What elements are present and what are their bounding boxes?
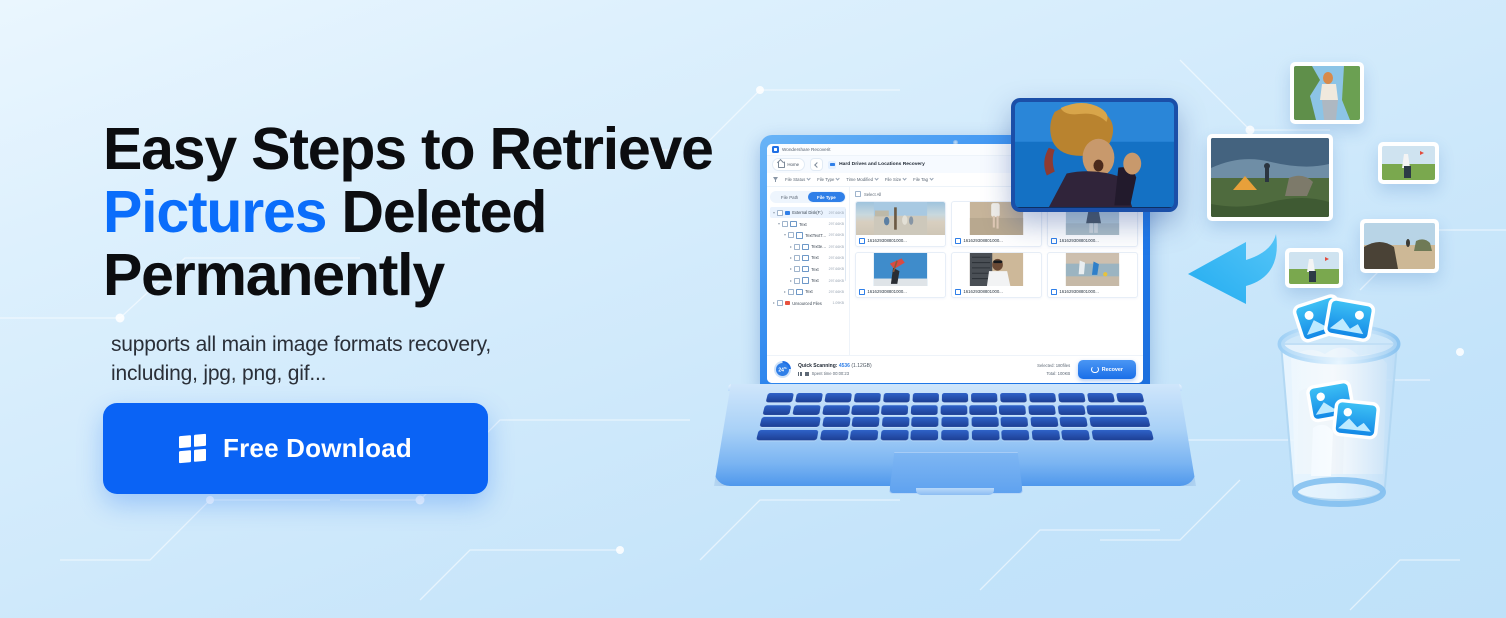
- preview-photo-man-fur-hat: [1015, 102, 1174, 207]
- chevron-down-icon: [929, 177, 934, 182]
- folder-icon: [796, 232, 803, 238]
- expand-toggle-icon[interactable]: [789, 257, 792, 259]
- filter-file-type[interactable]: File Type: [817, 177, 839, 182]
- folder-icon: [796, 289, 803, 295]
- folder-icon: [802, 266, 809, 272]
- photo-person-in-tree: [1294, 66, 1360, 120]
- photo-person-field-kite: [1382, 146, 1435, 180]
- scan-progress-ring: 24%: [774, 361, 791, 378]
- row-checkbox[interactable]: [777, 210, 783, 216]
- tree-row-size: 297.66KB: [829, 245, 844, 249]
- file-name: 161629308801000...: [1059, 238, 1098, 243]
- filter-file-tag[interactable]: File Tag: [913, 177, 933, 182]
- headline-line-1: Easy Steps to Retrieve: [103, 116, 713, 182]
- tree-row[interactable]: Text 297.66KB: [770, 252, 846, 263]
- file-grid-pane: Select All: [850, 187, 1143, 355]
- unsourced-files-icon: [785, 301, 790, 305]
- trash-bin-icon: [1253, 288, 1425, 510]
- tab-file-path[interactable]: File Path: [771, 192, 808, 202]
- tree-row[interactable]: Text 297.66KB: [770, 275, 846, 286]
- tree-row-size: 297.66KB: [829, 290, 844, 294]
- scan-count: 4536: [839, 363, 850, 369]
- tree-row[interactable]: Text 297.66KB: [770, 218, 846, 229]
- tree-row-label: Text: [805, 289, 826, 294]
- thumbnail-image: [952, 253, 1041, 286]
- headline-accent-word: Pictures: [103, 179, 326, 245]
- folder-icon: [802, 255, 809, 261]
- row-checkbox[interactable]: [794, 244, 800, 250]
- status-bar: 24% Quick Scanning: 4536 (1.12GB) Spent …: [767, 355, 1143, 383]
- thumbnail-grid: 161629308801000...: [855, 201, 1138, 298]
- breadcrumb-label: Hard Drives and Locations Recovery: [839, 162, 925, 167]
- file-checkbox[interactable]: [1051, 289, 1057, 295]
- file-name: 161629308801000...: [963, 289, 1002, 294]
- file-card-footer: 161629308801000...: [856, 286, 945, 297]
- laptop-front-notch: [916, 488, 994, 495]
- scan-status: Quick Scanning: 4536 (1.12GB) Spent time…: [798, 363, 872, 377]
- photo-desert-rocks: [1364, 223, 1435, 269]
- file-name: 161629308801000...: [963, 238, 1002, 243]
- file-card-footer: 161629308801000...: [1048, 235, 1137, 246]
- hero-banner: Easy Steps to Retrieve Pictures Deleted …: [0, 0, 1506, 618]
- laptop-keyboard: [756, 393, 1155, 442]
- row-checkbox[interactable]: [788, 232, 794, 238]
- thumbnail-image: [1048, 253, 1137, 286]
- tab-file-type[interactable]: File Type: [808, 192, 845, 202]
- folder-icon: [790, 221, 797, 227]
- tree-row[interactable]: TextTextText... 297.66KB: [770, 230, 846, 241]
- tree-row-label: Text: [811, 278, 826, 283]
- file-checkbox[interactable]: [955, 238, 961, 244]
- floating-photo-card[interactable]: [1360, 219, 1439, 273]
- selected-count: Selected: 180files: [1037, 363, 1070, 368]
- expand-toggle-icon[interactable]: [772, 212, 775, 214]
- chevron-down-icon: [902, 177, 907, 182]
- chevron-down-icon: [874, 177, 879, 182]
- tree-row[interactable]: Text 297.66KB: [770, 264, 846, 275]
- home-icon: [778, 161, 785, 168]
- file-checkbox[interactable]: [859, 238, 865, 244]
- tree-row-label: External Disk(F:): [792, 210, 826, 215]
- chevron-left-icon: [814, 162, 820, 168]
- tree-row[interactable]: Unsourced Files 1.09KB: [770, 298, 846, 309]
- tree-row-label: Text: [811, 267, 826, 272]
- row-checkbox[interactable]: [782, 221, 788, 227]
- spent-time: Spent time 00:00:23: [812, 371, 849, 376]
- stop-icon[interactable]: [805, 372, 809, 376]
- home-button[interactable]: Home: [772, 158, 805, 171]
- back-button[interactable]: [810, 158, 823, 171]
- breadcrumb: Hard Drives and Locations Recovery: [828, 161, 925, 169]
- tree-row-size: 297.66KB: [829, 267, 844, 271]
- scan-size: (1.12GB): [851, 363, 871, 369]
- tree-row-label: Unsourced Files: [792, 301, 830, 306]
- progress-unit: %: [784, 366, 787, 370]
- row-checkbox[interactable]: [777, 300, 783, 306]
- file-name: 161629308801000...: [867, 289, 906, 294]
- floating-photo-card[interactable]: [1378, 142, 1439, 184]
- select-all-checkbox[interactable]: [855, 191, 861, 197]
- expand-toggle-icon[interactable]: [772, 302, 775, 304]
- app-body: File Path File Type External Disk(F:) 29…: [767, 187, 1143, 355]
- row-checkbox[interactable]: [794, 278, 800, 284]
- file-card[interactable]: 161629308801000...: [951, 252, 1042, 298]
- headline-line-3: Permanently: [103, 242, 444, 308]
- file-card[interactable]: 161629308801000...: [855, 252, 946, 298]
- tree-row[interactable]: Texttexttext... 297.66KB: [770, 241, 846, 252]
- app-logo-icon: [772, 146, 779, 153]
- recover-label: Recover: [1102, 367, 1123, 373]
- app-title: Wondershare Recoverit: [782, 147, 831, 152]
- photo-tent-coastline: [1211, 138, 1329, 217]
- file-tree[interactable]: External Disk(F:) 297.66KB Text 297.66KB: [770, 207, 846, 355]
- filter-label: File Size: [885, 177, 901, 182]
- expand-toggle-icon[interactable]: [789, 280, 792, 282]
- tree-row-size: 1.09KB: [833, 301, 844, 305]
- tree-row-label: Text: [811, 255, 826, 260]
- page-title: Easy Steps to Retrieve Pictures Deleted …: [103, 118, 763, 307]
- row-checkbox[interactable]: [788, 289, 794, 295]
- free-download-label: Free Download: [223, 433, 412, 464]
- row-checkbox[interactable]: [794, 266, 800, 272]
- hero-copy: Easy Steps to Retrieve Pictures Deleted …: [103, 118, 763, 389]
- sidebar-scrollbar[interactable]: [845, 209, 846, 281]
- windows-logo-icon: [179, 434, 206, 463]
- select-all-label: Select All: [864, 192, 881, 197]
- filter-label: File Status: [785, 177, 805, 182]
- selection-counts: Selected: 180files Total: 100KB: [1037, 363, 1070, 376]
- recover-button[interactable]: Recover: [1078, 360, 1136, 379]
- pause-icon[interactable]: [798, 372, 802, 376]
- floating-photo-card[interactable]: [1285, 248, 1343, 288]
- preview-photo-card[interactable]: [1011, 98, 1178, 212]
- tree-row-label: TextTextText...: [805, 233, 826, 238]
- file-card-footer: 161629308801000...: [952, 235, 1041, 246]
- hard-drive-icon: [828, 161, 836, 169]
- tree-row[interactable]: External Disk(F:) 297.66KB: [770, 207, 846, 218]
- hero-subcopy: supports all main image formats recovery…: [111, 331, 531, 389]
- funnel-icon[interactable]: [773, 177, 778, 182]
- expand-toggle-icon[interactable]: [777, 223, 780, 225]
- folder-icon: [802, 244, 809, 250]
- file-card-footer: 161629308801000...: [952, 286, 1041, 297]
- chevron-down-icon: [835, 177, 840, 182]
- file-name: 161629308801000...: [1059, 289, 1098, 294]
- row-checkbox[interactable]: [794, 255, 800, 261]
- refresh-icon: [1091, 366, 1099, 374]
- file-card[interactable]: 161629308801000...: [855, 201, 946, 247]
- file-card-footer: 161629308801000...: [856, 235, 945, 246]
- filter-time-modified[interactable]: Time Modified: [846, 177, 878, 182]
- home-label: Home: [787, 162, 799, 167]
- tree-row-label: Text: [799, 222, 826, 227]
- expand-toggle-icon[interactable]: [783, 291, 786, 293]
- filter-label: Time Modified: [846, 177, 873, 182]
- file-checkbox[interactable]: [859, 289, 865, 295]
- filter-label: File Tag: [913, 177, 928, 182]
- floating-photo-card[interactable]: [1290, 62, 1364, 124]
- file-card[interactable]: 161629308801000...: [1047, 252, 1138, 298]
- sidebar: File Path File Type External Disk(F:) 29…: [767, 187, 850, 355]
- drive-icon: [785, 211, 790, 215]
- tree-row-size: 297.66KB: [829, 279, 844, 283]
- thumbnail-image: [856, 253, 945, 286]
- headline-line-2-rest: Deleted: [326, 179, 546, 245]
- filter-label: File Type: [817, 177, 834, 182]
- scan-label: Quick Scanning:: [798, 363, 837, 369]
- tree-row-label: Texttexttext...: [811, 244, 826, 249]
- thumbnail-image: [856, 202, 945, 235]
- tree-row-size: 297.66KB: [829, 256, 844, 260]
- file-name: 161629308801000...: [867, 238, 906, 243]
- file-card-footer: 161629308801000...: [1048, 286, 1137, 297]
- expand-toggle-icon[interactable]: [789, 246, 792, 248]
- expand-toggle-icon[interactable]: [789, 268, 792, 270]
- file-checkbox[interactable]: [955, 289, 961, 295]
- filter-file-size[interactable]: File Size: [885, 177, 906, 182]
- expand-toggle-icon[interactable]: [783, 234, 786, 236]
- filter-file-status[interactable]: File Status: [785, 177, 810, 182]
- photo-person-field-kite-2: [1289, 252, 1339, 284]
- file-checkbox[interactable]: [1051, 238, 1057, 244]
- status-right: Selected: 180files Total: 100KB Recover: [1037, 360, 1136, 379]
- tree-row-size: 297.66KB: [829, 222, 844, 226]
- folder-icon: [802, 277, 809, 283]
- tree-row-size: 297.66KB: [829, 233, 844, 237]
- free-download-button[interactable]: Free Download: [103, 403, 488, 494]
- tree-row-size: 297.66KB: [829, 211, 844, 215]
- tree-row[interactable]: Text 297.66KB: [770, 286, 846, 297]
- floating-photo-card[interactable]: [1207, 134, 1333, 221]
- chevron-down-icon: [806, 177, 811, 182]
- sidebar-tabs: File Path File Type: [770, 191, 846, 203]
- total-size: Total: 100KB: [1046, 371, 1070, 376]
